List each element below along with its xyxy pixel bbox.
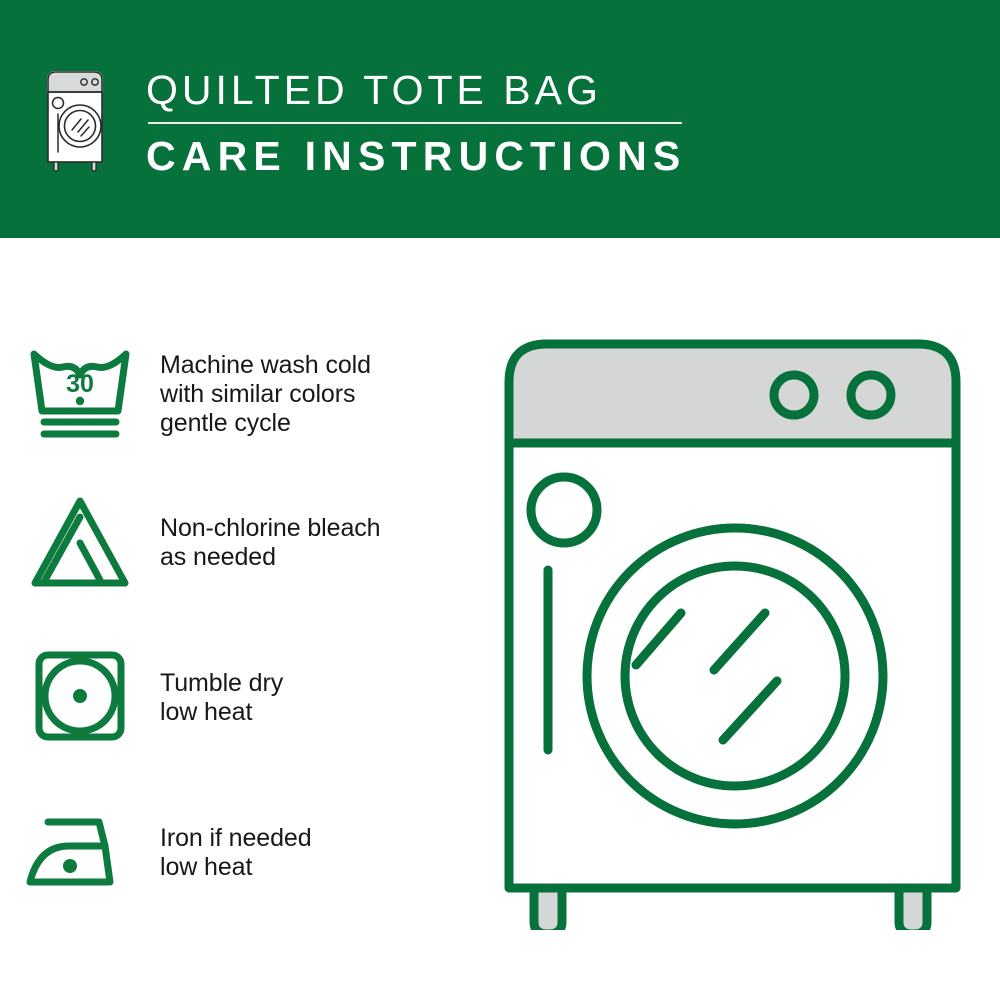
care-label-line: gentle cycle: [160, 409, 500, 438]
care-label-iron: Iron if needed low heat: [160, 824, 500, 882]
care-label-line: with similar colors: [160, 380, 500, 409]
care-label-line: Tumble dry: [160, 669, 500, 698]
care-row-tumble-dry: Tumble dry low heat: [0, 638, 500, 758]
iron-low-heat-icon: [0, 810, 160, 896]
front-load-washing-machine-illustration: [495, 330, 970, 930]
care-label-line: Iron if needed: [160, 824, 500, 853]
care-label-bleach: Non-chlorine bleach as needed: [160, 514, 500, 572]
page-subtitle: CARE INSTRUCTIONS: [146, 130, 706, 182]
care-row-machine-wash: 30 Machine wash cold with similar colors…: [0, 334, 500, 454]
care-row-iron: Iron if needed low heat: [0, 793, 500, 913]
care-label-line: low heat: [160, 698, 500, 727]
page-title: QUILTED TOTE BAG: [146, 64, 706, 116]
care-label-machine-wash: Machine wash cold with similar colors ge…: [160, 351, 500, 438]
header-band: QUILTED TOTE BAG CARE INSTRUCTIONS: [0, 0, 1000, 238]
care-instruction-list: 30 Machine wash cold with similar colors…: [0, 238, 500, 1000]
leg: [534, 888, 562, 930]
care-instructions-infographic: QUILTED TOTE BAG CARE INSTRUCTIONS 30: [0, 0, 1000, 1000]
title-divider: [148, 122, 682, 124]
leg: [899, 888, 927, 930]
care-label-line: Machine wash cold: [160, 351, 500, 380]
care-label-line: as needed: [160, 543, 500, 572]
washing-machine-icon: [44, 68, 106, 172]
wash-temperature-value: 30: [66, 370, 94, 398]
care-label-line: low heat: [160, 853, 500, 882]
wash-tub-30-gentle-icon: 30: [0, 344, 160, 444]
care-label-tumble-dry: Tumble dry low heat: [160, 669, 500, 727]
care-row-bleach: Non-chlorine bleach as needed: [0, 483, 500, 603]
header-text-block: QUILTED TOTE BAG CARE INSTRUCTIONS: [146, 64, 706, 182]
bleach-triangle-non-chlorine-icon: [0, 493, 160, 593]
tumble-dry-low-heat-icon: [0, 648, 160, 748]
care-label-line: Non-chlorine bleach: [160, 514, 500, 543]
